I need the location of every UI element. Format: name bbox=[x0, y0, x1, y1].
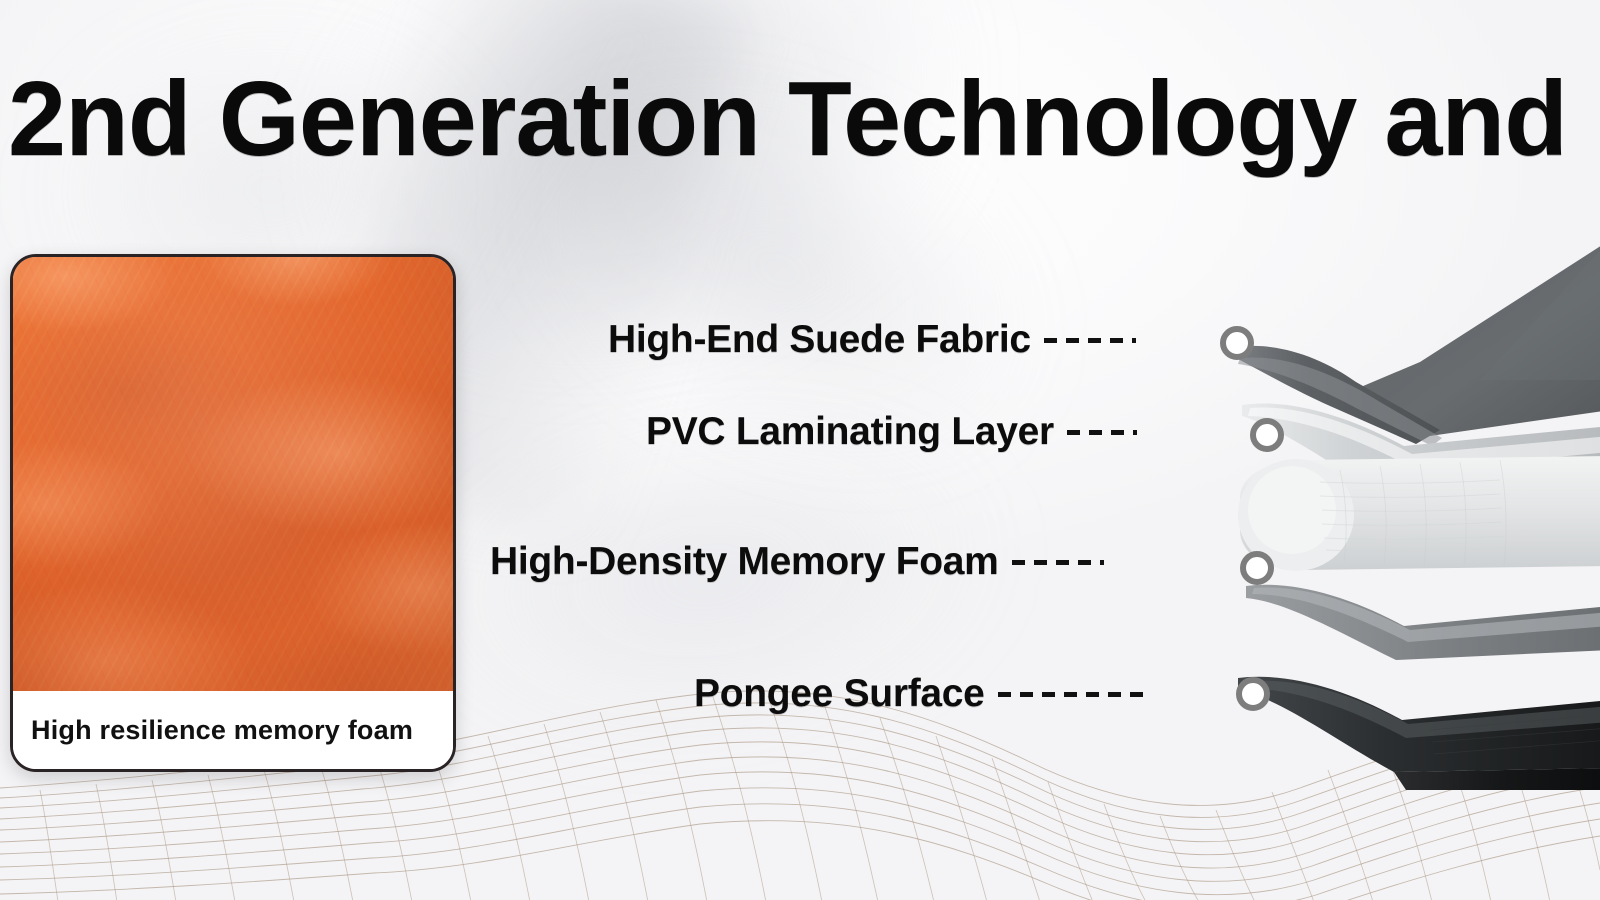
leader-line-4 bbox=[998, 692, 1146, 697]
layer-marker-circle-2[interactable] bbox=[1250, 418, 1284, 452]
callout-pvc-laminating-layer[interactable]: PVC Laminating Layer bbox=[646, 410, 1141, 454]
layer-marker-circle-1[interactable] bbox=[1220, 326, 1254, 360]
foam-card-caption: High resilience memory foam bbox=[13, 691, 453, 769]
memory-foam-card: High resilience memory foam bbox=[10, 254, 456, 772]
callout-label-2: PVC Laminating Layer bbox=[646, 410, 1054, 454]
page-title: 2nd Generation Technology and Fabrics bbox=[8, 64, 1574, 175]
leader-line-1 bbox=[1044, 338, 1136, 343]
leader-line-2 bbox=[1067, 430, 1137, 435]
callout-label-3: High-Density Memory Foam bbox=[490, 540, 999, 584]
infographic-canvas: 2nd Generation Technology and Fabrics Hi… bbox=[0, 0, 1600, 900]
callout-label-1: High-End Suede Fabric bbox=[608, 318, 1031, 362]
callout-high-end-suede-fabric[interactable]: High-End Suede Fabric bbox=[608, 318, 1140, 362]
leader-line-3 bbox=[1012, 560, 1104, 565]
foam-vignette bbox=[13, 257, 453, 691]
callout-label-4: Pongee Surface bbox=[694, 672, 985, 716]
layer-marker-circle-4[interactable] bbox=[1236, 677, 1270, 711]
callout-high-density-memory-foam[interactable]: High-Density Memory Foam bbox=[490, 540, 1108, 584]
layer-marker-circle-3[interactable] bbox=[1240, 551, 1274, 585]
callout-pongee-surface[interactable]: Pongee Surface bbox=[694, 672, 1150, 716]
memory-foam-texture bbox=[13, 257, 453, 691]
